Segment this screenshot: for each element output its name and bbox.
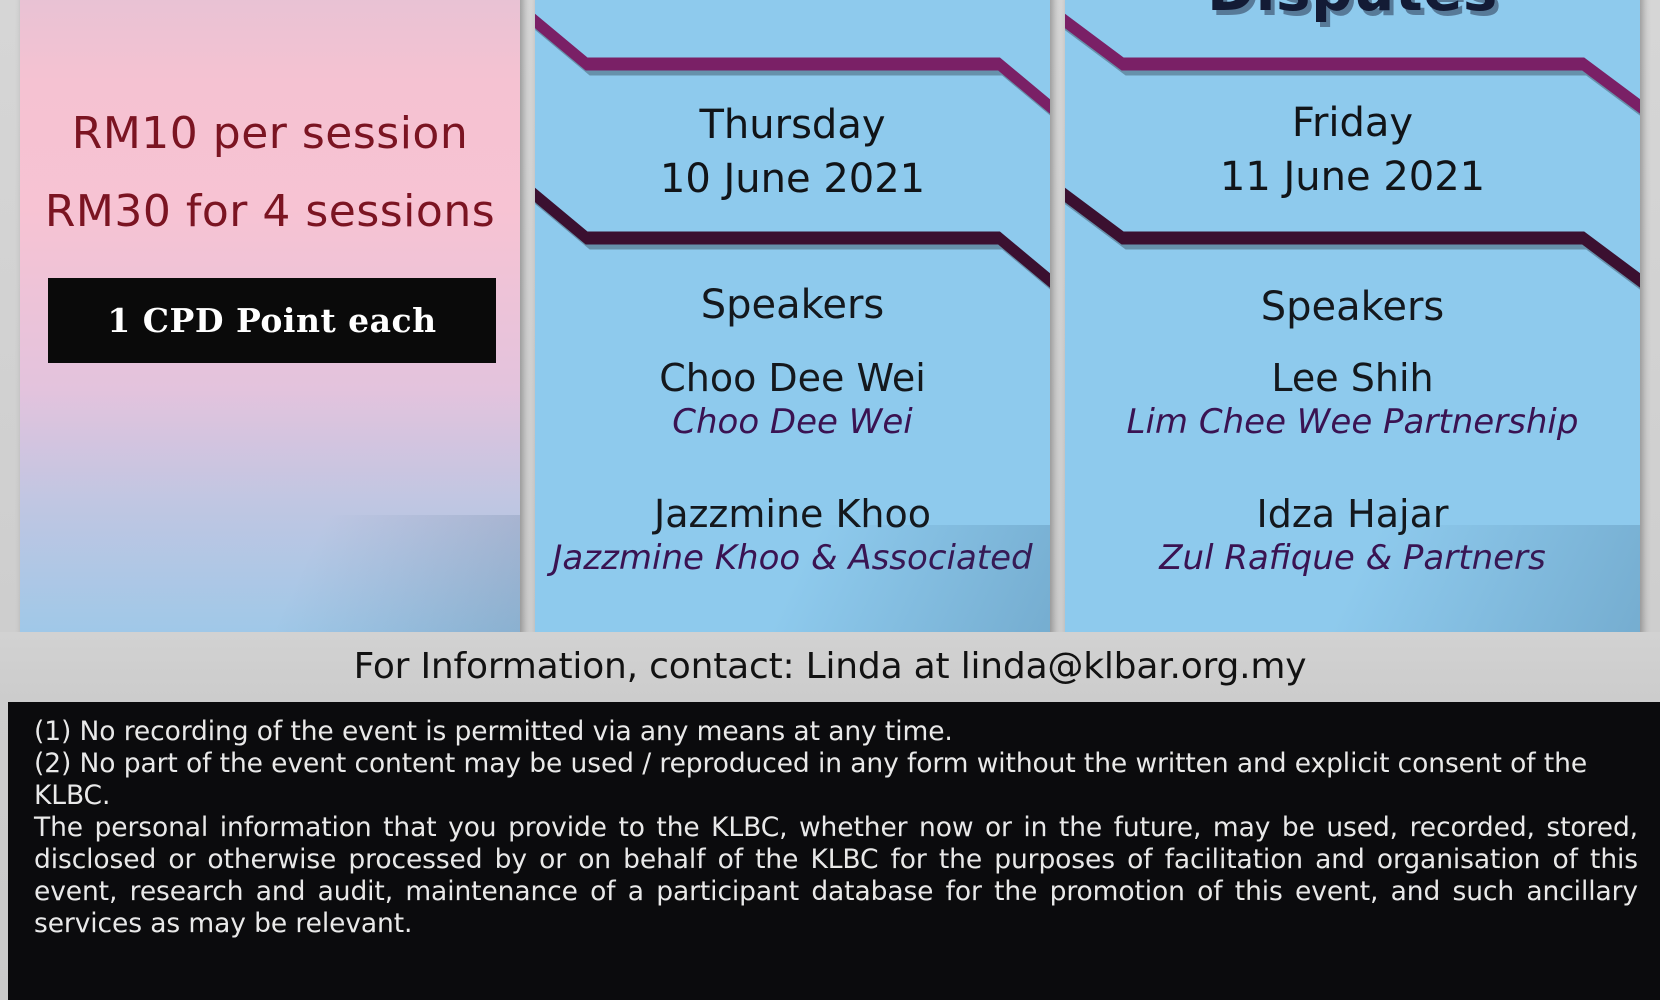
price-four-sessions: RM30 for 4 sessions — [20, 186, 520, 237]
disclaimer-line-2: (2) No part of the event content may be … — [34, 748, 1638, 812]
speaker-firm: Lim Chee Wee Partnership — [1065, 400, 1640, 444]
price-per-session: RM10 per session — [20, 108, 520, 159]
speaker-name: Jazzmine Khoo — [535, 492, 1050, 536]
event-poster: RM10 per session RM30 for 4 sessions 1 C… — [0, 0, 1660, 1000]
disclaimer-block: (1) No recording of the event is permitt… — [8, 702, 1660, 1000]
zigzag-divider-top-thursday — [535, 12, 1050, 72]
cpd-point-badge: 1 CPD Point each — [48, 278, 496, 363]
contact-strip: For Information, contact: Linda at linda… — [0, 632, 1660, 700]
contact-info-text: For Information, contact: Linda at linda… — [354, 646, 1307, 687]
disclaimer-line-1: (1) No recording of the event is permitt… — [34, 716, 1638, 748]
session-panel-thursday: Thursday 10 June 2021 Speakers Choo Dee … — [535, 0, 1050, 635]
speaker-name: Lee Shih — [1065, 356, 1640, 400]
speakers-heading-thursday: Speakers — [535, 282, 1050, 328]
speaker-entry: Lee Shih Lim Chee Wee Partnership — [1065, 356, 1640, 444]
speaker-firm: Jazzmine Khoo & Associated — [535, 536, 1050, 580]
session-day-label: Friday — [1065, 96, 1640, 150]
speaker-firm: Zul Rafique & Partners — [1065, 536, 1640, 580]
speaker-entry: Choo Dee Wei Choo Dee Wei — [535, 356, 1050, 444]
speaker-firm: Choo Dee Wei — [535, 400, 1050, 444]
session-date-friday: Friday 11 June 2021 — [1065, 96, 1640, 204]
speaker-entry: Jazzmine Khoo Jazzmine Khoo & Associated — [535, 492, 1050, 580]
session-date-label: 10 June 2021 — [535, 152, 1050, 206]
speaker-entry: Idza Hajar Zul Rafique & Partners — [1065, 492, 1640, 580]
panel-row: RM10 per session RM30 for 4 sessions 1 C… — [0, 0, 1660, 635]
session-day-label: Thursday — [535, 98, 1050, 152]
poster-headline-cutoff: Disputes — [1065, 0, 1640, 24]
disclaimer-line-3: The personal information that you provid… — [34, 812, 1638, 940]
speakers-heading-friday: Speakers — [1065, 284, 1640, 330]
session-date-label: 11 June 2021 — [1065, 150, 1640, 204]
cpd-point-badge-label: 1 CPD Point each — [107, 301, 436, 340]
speaker-name: Idza Hajar — [1065, 492, 1640, 536]
speaker-name: Choo Dee Wei — [535, 356, 1050, 400]
pricing-panel: RM10 per session RM30 for 4 sessions 1 C… — [20, 0, 520, 635]
session-panel-friday: Disputes Friday 11 June 2021 Speakers — [1065, 0, 1640, 635]
session-date-thursday: Thursday 10 June 2021 — [535, 98, 1050, 206]
